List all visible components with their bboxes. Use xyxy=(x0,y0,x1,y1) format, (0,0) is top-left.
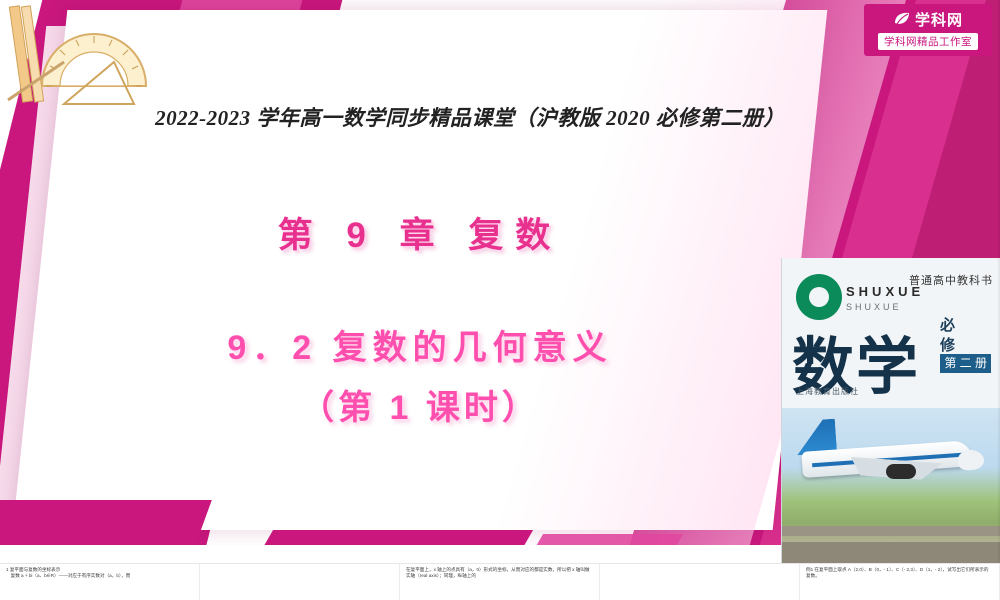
airplane-nose xyxy=(957,449,984,471)
textbook-volume-label: 第 二 册 xyxy=(940,354,991,373)
thumbnail-page-2[interactable] xyxy=(200,564,400,600)
thumbnail-page-1[interactable]: 1 复平面与复数的坐标表示 复数 a + bi（a、b∈R）——对应于有序实数对… xyxy=(0,564,200,600)
textbook-bi-label: 必 xyxy=(940,314,955,335)
thumbnail-page-4[interactable] xyxy=(600,564,800,600)
textbook-airplane-photo xyxy=(782,408,1000,563)
textbook-subject-pinyin: SHUXUE xyxy=(846,302,902,312)
logo-brand-text: 学科网 xyxy=(915,9,963,30)
textbook-xiu-label: 修 xyxy=(940,334,955,355)
textbook-cover-image: SHUXUE SHUXUE 普通高中教科书 数学 必 修 第 二 册 上海教育出… xyxy=(781,258,1000,563)
thumbnail-body-5: 例1 在复平面上取点 A（2,0）、B（0，- 1）、C（- 2,3）、D（1，… xyxy=(806,567,993,580)
slide-canvas: 学科网 学科网精品工作室 2022-2023 学年高一数学同步精品课堂（沪教版 … xyxy=(0,0,1000,600)
airplane-engine xyxy=(886,464,916,479)
thumbnail-page-5[interactable]: 例1 在复平面上取点 A（2,0）、B（0，- 1）、C（- 2,3）、D（1，… xyxy=(800,564,1000,600)
page-thumbnail-strip[interactable]: 1 复平面与复数的坐标表示 复数 a + bi（a、b∈R）——对应于有序实数对… xyxy=(0,563,1000,600)
thumbnail-page-3[interactable]: 在复平面上，x 轴上的点具有（a，0）形式的坐标，从而对应的都是实数，所以把 x… xyxy=(400,564,600,600)
thumbnail-body-1: 复数 a + bi（a、b∈R）——对应于有序实数对（a，b），而 xyxy=(6,573,193,579)
thumbnail-body-3: 在复平面上，x 轴上的点具有（a，0）形式的坐标，从而对应的都是实数，所以把 x… xyxy=(406,567,593,580)
logo-sub-text: 学科网精品工作室 xyxy=(878,33,978,50)
lesson-title: （第 1 课时） xyxy=(0,380,840,429)
textbook-publisher-line: 普通高中教科书 xyxy=(909,272,993,288)
runway-strip xyxy=(782,526,1000,536)
logo-top-row: 学科网 xyxy=(893,6,963,32)
section-title: 9．2 复数的几何意义 xyxy=(0,320,840,369)
textbook-cover-top: SHUXUE SHUXUE 普通高中教科书 数学 必 修 第 二 册 上海教育出… xyxy=(782,258,1000,423)
brand-logo: 学科网 学科网精品工作室 xyxy=(864,4,992,56)
leaf-logo-icon xyxy=(893,10,911,28)
chapter-title: 第 9 章 复数 xyxy=(0,207,840,258)
textbook-logo-icon xyxy=(796,274,842,320)
runway-ground xyxy=(782,542,1000,563)
course-title: 2022-2023 学年高一数学同步精品课堂（沪教版 2020 必修第二册） xyxy=(0,102,940,132)
textbook-press-label: 上海教育出版社 xyxy=(796,386,859,397)
